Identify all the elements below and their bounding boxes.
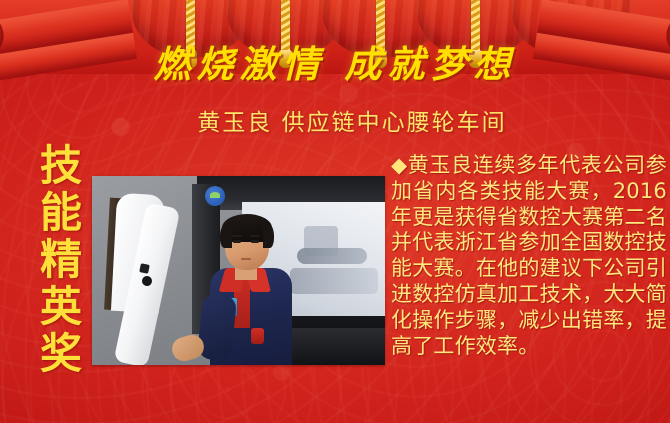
photo-machine-bed-detail bbox=[277, 328, 385, 365]
award-label-char: 技 bbox=[40, 142, 86, 189]
photo-worker-eye bbox=[251, 240, 259, 243]
employee-photo bbox=[92, 176, 385, 365]
photo-window-detail bbox=[290, 268, 378, 294]
photo-window-detail bbox=[297, 248, 367, 264]
achievement-description: ◆黄玉良连续多年代表公司参加省内各类技能大赛，2016年更是获得省数控大赛第二名… bbox=[391, 153, 667, 359]
award-label-char: 能 bbox=[40, 189, 86, 236]
photo-worker-eyebrow bbox=[250, 235, 260, 237]
award-label-char: 英 bbox=[40, 283, 86, 330]
honor-poster: 燃烧激情 成就梦想 黄玉良 供应链中心腰轮车间 技 能 精 英 奖 bbox=[0, 0, 670, 423]
poster-subtitle: 黄玉良 供应链中心腰轮车间 bbox=[0, 103, 670, 137]
award-label-char: 奖 bbox=[40, 330, 86, 377]
photo-worker-mouth bbox=[241, 258, 251, 260]
photo-worker-eyebrow bbox=[232, 235, 242, 237]
photo-worker-hair bbox=[263, 224, 274, 248]
photo-machine-logo bbox=[205, 186, 225, 206]
award-label-vertical: 技 能 精 英 奖 bbox=[40, 142, 86, 377]
poster-headline: 燃烧激情 成就梦想 bbox=[0, 34, 670, 88]
photo-worker-eye bbox=[233, 240, 241, 243]
photo-worker-pocket bbox=[251, 328, 264, 344]
photo-control-button bbox=[139, 263, 150, 274]
photo-worker-hair bbox=[220, 224, 232, 248]
award-label-char: 精 bbox=[40, 236, 86, 283]
